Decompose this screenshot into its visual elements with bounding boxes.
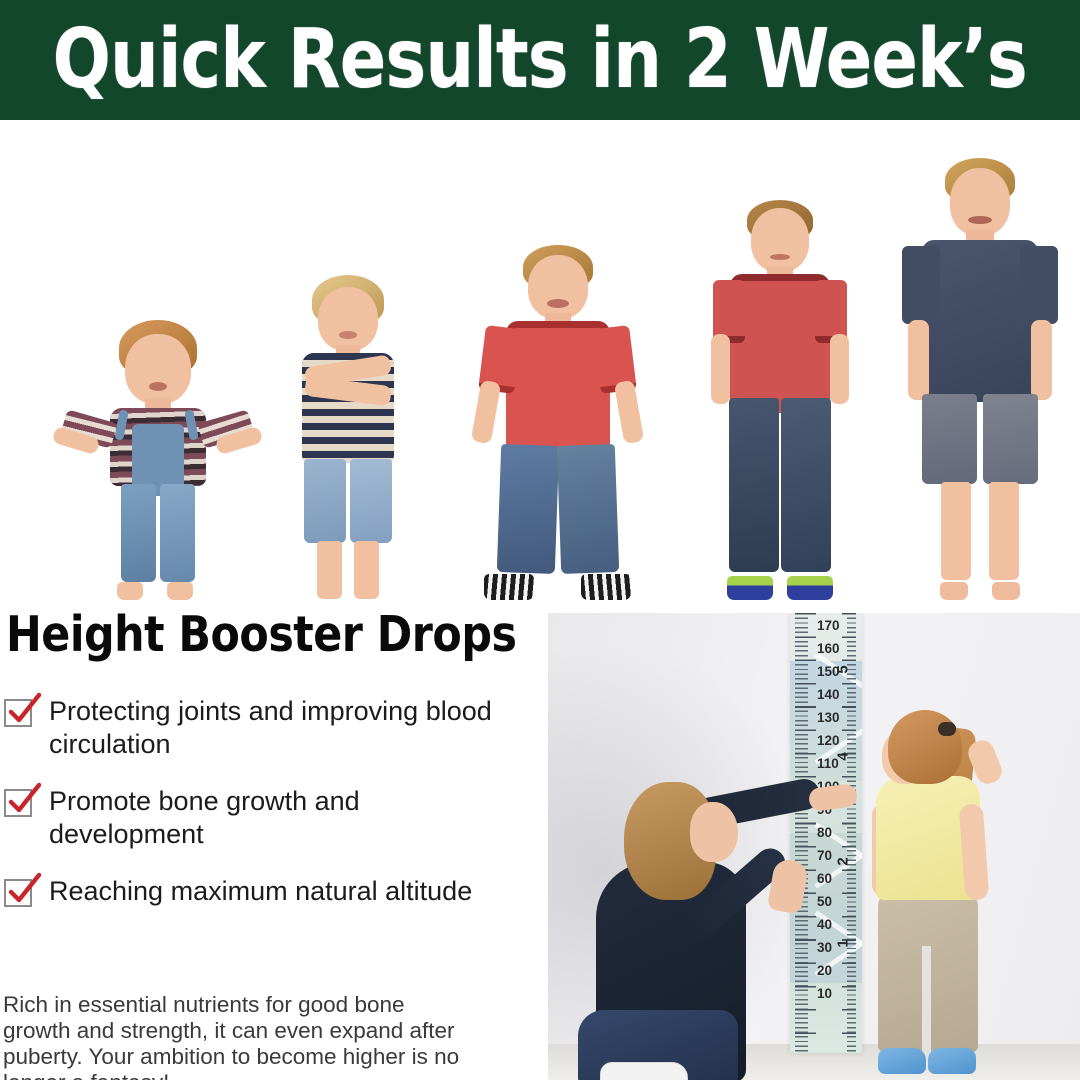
legs xyxy=(121,484,195,584)
ruler-cm-label: 20 xyxy=(817,964,832,977)
head xyxy=(528,255,588,319)
child-figure-3 xyxy=(470,245,645,600)
bare-leg-left xyxy=(317,541,342,599)
benefit-text: Reaching maximum natural altitude xyxy=(49,875,472,908)
ruler-ft-label: 2 xyxy=(834,857,851,865)
short-leg-left xyxy=(304,459,346,543)
bare-leg-right xyxy=(989,482,1019,580)
checkmark-icon xyxy=(4,879,32,907)
jeans xyxy=(729,398,831,574)
jeans xyxy=(499,445,617,575)
foot-right xyxy=(167,582,193,600)
mouth xyxy=(547,299,569,308)
mouth xyxy=(770,254,790,260)
jean-leg-left xyxy=(729,398,779,572)
product-title: Height Booster Drops xyxy=(6,609,510,661)
ruler-cm-label: 30 xyxy=(817,941,832,954)
product-copy-block: Height Booster Drops Protecting joints a… xyxy=(0,600,548,1080)
ruler-ft-label: 4 xyxy=(834,752,851,760)
arm-right xyxy=(830,334,849,404)
girl-shoe-left xyxy=(878,1048,926,1074)
mouth xyxy=(968,216,992,224)
woman-shoe xyxy=(600,1062,688,1080)
bare-legs xyxy=(317,541,379,601)
jean-leg-right xyxy=(781,398,831,572)
mouth xyxy=(339,331,357,339)
short-leg-right xyxy=(983,394,1038,484)
benefit-item: Promote bone growth and development xyxy=(4,785,524,851)
ruler-cm-label: 170 xyxy=(817,619,840,632)
ruler-cm-label: 80 xyxy=(817,826,832,839)
ruler-cm-label: 120 xyxy=(817,734,840,747)
ruler-cm-label: 130 xyxy=(817,711,840,724)
checkmark-icon xyxy=(4,789,32,817)
jean-leg-right xyxy=(556,444,618,574)
shorts xyxy=(922,394,1038,486)
ruler-cm-label: 140 xyxy=(817,688,840,701)
benefit-text: Protecting joints and improving blood ci… xyxy=(49,695,504,761)
arm-left xyxy=(471,380,501,445)
ruler-ft-label: 5 xyxy=(834,665,851,673)
ruler-cm-label: 10 xyxy=(817,987,832,1000)
leg-left xyxy=(121,484,156,582)
woman-face xyxy=(690,802,738,862)
sleeve-left xyxy=(902,246,940,324)
headline-text: Quick Results in 2 Week’s xyxy=(53,18,1027,102)
sneaker-left xyxy=(727,576,773,600)
ruler-cm-label: 50 xyxy=(817,895,832,908)
bare-leg-right xyxy=(354,541,379,599)
foot-left xyxy=(117,582,143,600)
sneaker-left xyxy=(484,574,534,600)
ad-page: Quick Results in 2 Week’s xyxy=(0,0,1080,1080)
benefit-item: Reaching maximum natural altitude xyxy=(4,875,524,908)
short-leg-left xyxy=(922,394,977,484)
child-figure-5 xyxy=(900,158,1060,600)
bare-legs xyxy=(941,482,1019,582)
arm-right xyxy=(614,380,644,445)
ruler-cm-label: 40 xyxy=(817,918,832,931)
child-figure-4 xyxy=(705,200,855,600)
girl-shoe-right xyxy=(928,1048,976,1074)
sneaker-right xyxy=(787,576,833,600)
benefit-list: Protecting joints and improving blood ci… xyxy=(4,695,524,932)
foot-right xyxy=(992,582,1020,600)
short-leg-right xyxy=(350,459,392,543)
foot-left xyxy=(940,582,968,600)
ruler-major-ticks-right xyxy=(842,613,856,1053)
girl-hair-tie xyxy=(938,722,956,736)
girl-hair xyxy=(888,710,962,784)
checkmark-icon xyxy=(4,699,32,727)
standing-girl xyxy=(876,704,1036,1080)
ruler-cm-label: 70 xyxy=(817,849,832,862)
head xyxy=(751,208,809,272)
sneaker-right xyxy=(581,574,631,600)
footnote-text: Rich in essential nutrients for good bon… xyxy=(3,992,471,1080)
child-figure-2 xyxy=(288,275,408,600)
girl-leg-gap xyxy=(922,946,931,1052)
sleeve-right xyxy=(1020,246,1058,324)
arm-right xyxy=(1031,320,1052,400)
arm-left xyxy=(711,334,730,404)
bare-leg-left xyxy=(941,482,971,580)
child-figure-1 xyxy=(55,320,260,600)
leg-right xyxy=(160,484,195,582)
benefit-text: Promote bone growth and development xyxy=(49,785,504,851)
arm-left xyxy=(908,320,929,400)
benefit-item: Protecting joints and improving blood ci… xyxy=(4,695,524,761)
head xyxy=(125,334,191,404)
ruler-cm-label: 160 xyxy=(817,642,840,655)
head xyxy=(950,168,1010,236)
headline-banner: Quick Results in 2 Week’s xyxy=(0,0,1080,120)
ruler-cm-label: 60 xyxy=(817,872,832,885)
kneeling-woman xyxy=(566,710,816,1080)
mother-measuring-girl-photo: 170 160 150 140 130 120 110 100 90 80 70… xyxy=(548,613,1080,1080)
shorts xyxy=(304,459,392,545)
child-growth-progression xyxy=(0,120,1080,600)
head xyxy=(318,287,378,351)
mouth xyxy=(149,382,167,391)
ruler-ft-label: 1 xyxy=(834,939,851,947)
jean-leg-left xyxy=(496,444,558,574)
